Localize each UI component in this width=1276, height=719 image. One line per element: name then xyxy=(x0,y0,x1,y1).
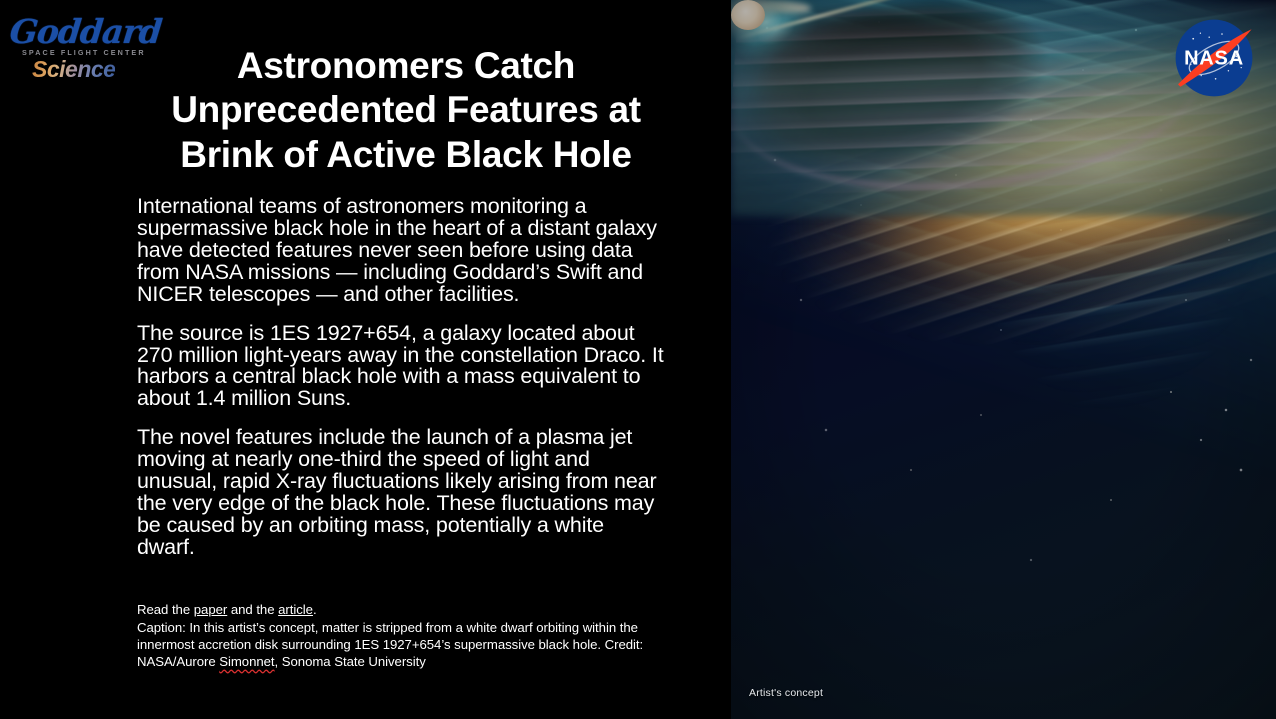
read-links-line: Read the paper and the article. xyxy=(137,601,661,618)
nasa-logo: NASA xyxy=(1174,18,1254,98)
goddard-science-logo: Goddard SPACE FLIGHT CENTER Science xyxy=(6,12,146,74)
body-copy: International teams of astronomers monit… xyxy=(137,196,665,559)
links-suffix: . xyxy=(313,602,317,617)
image-caption: Caption: In this artist’s concept, matte… xyxy=(137,619,661,670)
svg-text:NASA: NASA xyxy=(1184,47,1244,69)
body-paragraph-1: International teams of astronomers monit… xyxy=(137,196,665,306)
slide-root: Goddard SPACE FLIGHT CENTER Science Astr… xyxy=(0,0,1276,719)
black-hole-artwork: NASA Artist's concept xyxy=(731,0,1276,719)
paper-link[interactable]: paper xyxy=(194,602,227,617)
caption-misspelled-word: Simonnet xyxy=(219,654,274,669)
page-title: Astronomers Catch Unprecedented Features… xyxy=(132,44,680,177)
body-paragraph-2: The source is 1ES 1927+654, a galaxy loc… xyxy=(137,323,665,411)
links-prefix: Read the xyxy=(137,602,194,617)
body-paragraph-3: The novel features include the launch of… xyxy=(137,427,665,559)
footer-block: Read the paper and the article. Caption:… xyxy=(137,601,661,671)
vignette-overlay xyxy=(731,0,1276,719)
caption-suffix: , Sonoma State University xyxy=(275,654,426,669)
article-link[interactable]: article xyxy=(278,602,313,617)
artist-concept-credit: Artist's concept xyxy=(749,687,823,699)
science-wordmark: Science xyxy=(32,56,115,83)
links-middle: and the xyxy=(227,602,278,617)
nasa-meatball-icon: NASA xyxy=(1174,18,1254,98)
text-panel: Goddard SPACE FLIGHT CENTER Science Astr… xyxy=(0,0,731,719)
